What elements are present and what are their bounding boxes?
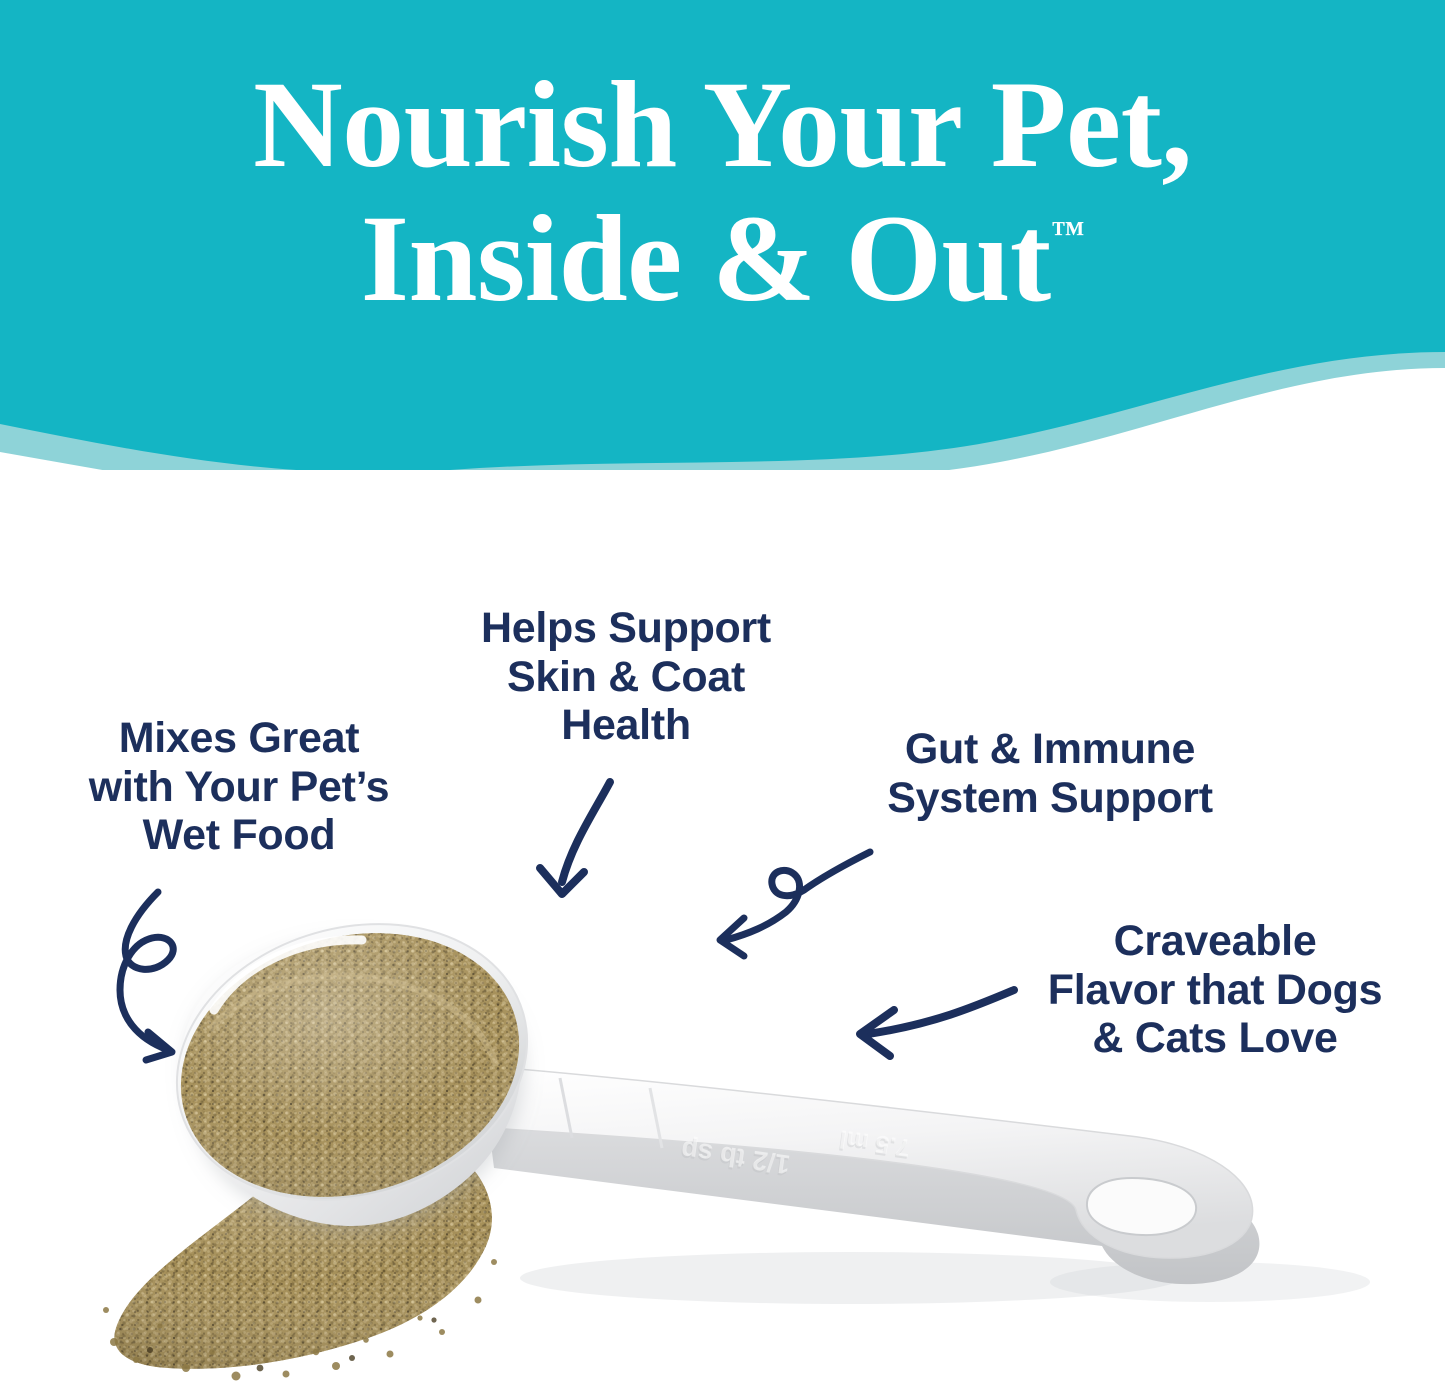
handle-hanging-hole (1087, 1178, 1196, 1235)
callout-gut-line-1: Gut & Immune (840, 725, 1260, 774)
callout-mixes-with-wet-food: Mixes Great with Your Pet’s Wet Food (44, 714, 434, 860)
callout-gut-line-2: System Support (840, 774, 1260, 823)
curved-arrow-down-icon (522, 772, 682, 902)
header-banner: Nourish Your Pet, Inside & Out™ (0, 0, 1445, 470)
page-title: Nourish Your Pet, Inside & Out™ (0, 58, 1445, 326)
callout-skin-line-1: Helps Support (430, 604, 822, 653)
curved-arrow-left-icon (846, 976, 1026, 1068)
trademark-symbol: ™ (1051, 215, 1084, 252)
callout-mixes-line-3: Wet Food (44, 811, 434, 860)
callout-mixes-line-2: with Your Pet’s (44, 763, 434, 812)
headline-line-1: Nourish Your Pet, (0, 58, 1445, 192)
callout-craveable-flavor: Craveable Flavor that Dogs & Cats Love (985, 917, 1445, 1063)
headline-line-2: Inside & Out (361, 190, 1051, 327)
callout-crave-line-3: & Cats Love (985, 1014, 1445, 1063)
curly-loop-arrow-left-icon (700, 840, 882, 962)
callout-skin-and-coat-health: Helps Support Skin & Coat Health (430, 604, 822, 750)
callout-crave-line-2: Flavor that Dogs (985, 966, 1445, 1015)
callout-skin-line-3: Health (430, 701, 822, 750)
curly-loop-arrow-down-right-icon (82, 882, 282, 1062)
callout-mixes-line-1: Mixes Great (44, 714, 434, 763)
promo-graphic-page: Nourish Your Pet, Inside & Out™ (0, 0, 1445, 1396)
headline-line-2-wrapper: Inside & Out™ (0, 192, 1445, 326)
callout-crave-line-1: Craveable (985, 917, 1445, 966)
callout-gut-and-immune-support: Gut & Immune System Support (840, 725, 1260, 822)
callout-skin-line-2: Skin & Coat (430, 653, 822, 702)
